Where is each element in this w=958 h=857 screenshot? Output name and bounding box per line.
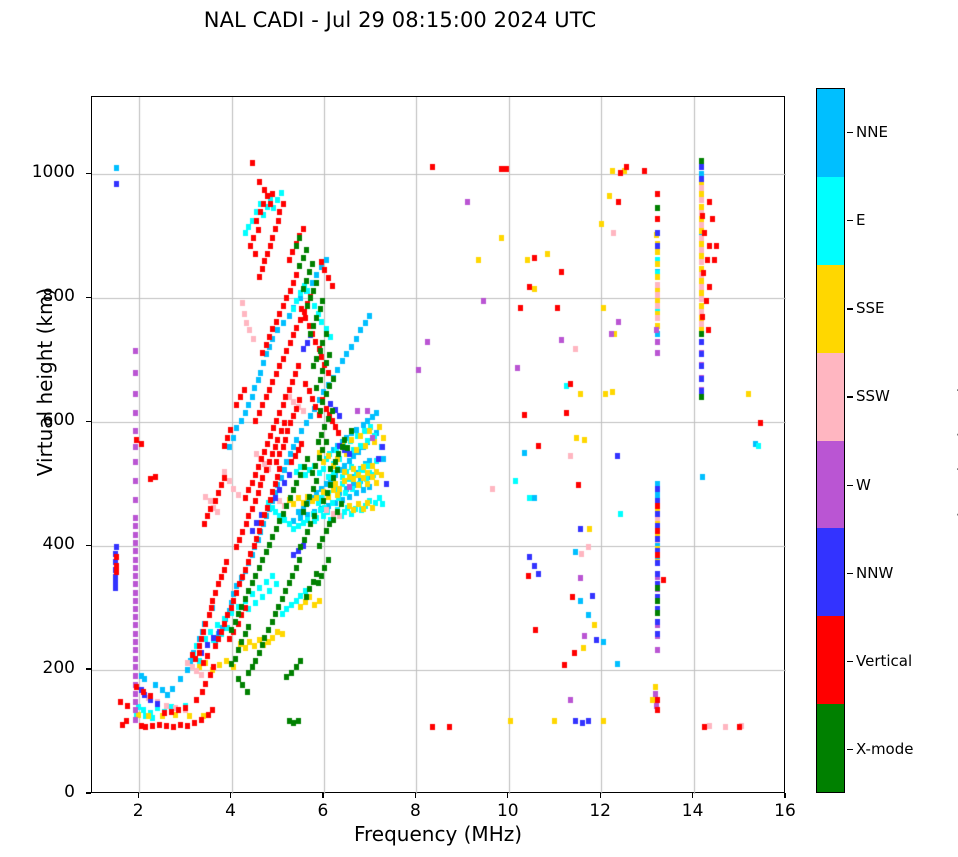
y-tick-label-1000: 1000 <box>15 162 75 182</box>
x-tick-mark-4 <box>230 793 231 798</box>
scatter-data-canvas <box>92 97 786 794</box>
plot-area[interactable] <box>91 96 785 793</box>
colorbar-segment-x-mode[interactable] <box>817 704 844 792</box>
colorbar-tick-nnw <box>847 573 853 574</box>
x-axis-label: Frequency (MHz) <box>91 822 785 846</box>
colorbar-segment-ssw[interactable] <box>817 353 844 441</box>
x-tick-mark-12 <box>600 793 601 798</box>
y-tick-mark-400 <box>86 545 91 546</box>
x-tick-label-10: 10 <box>478 801 538 821</box>
colorbar-label-x-mode: X-mode <box>856 740 913 758</box>
x-tick-mark-16 <box>784 793 785 798</box>
x-tick-mark-14 <box>692 793 693 798</box>
colorbar[interactable] <box>816 88 845 793</box>
colorbar-segment-e[interactable] <box>817 177 844 265</box>
colorbar-label-w: W <box>856 476 871 494</box>
colorbar-segment-sse[interactable] <box>817 265 844 353</box>
x-tick-mark-10 <box>507 793 508 798</box>
colorbar-segment-nne[interactable] <box>817 89 844 177</box>
colorbar-tick-ssw <box>847 396 853 397</box>
colorbar-label-sse: SSE <box>856 299 885 317</box>
x-tick-label-2: 2 <box>108 801 168 821</box>
y-tick-label-400: 400 <box>15 534 75 554</box>
colorbar-label-ssw: SSW <box>856 387 890 405</box>
colorbar-tick-vertical <box>847 661 853 662</box>
ionogram-figure: NAL CADI - Jul 29 08:15:00 2024 UTC 2468… <box>0 0 958 857</box>
y-tick-mark-0 <box>86 792 91 793</box>
colorbar-tick-nne <box>847 132 853 133</box>
x-tick-label-6: 6 <box>293 801 353 821</box>
x-tick-label-8: 8 <box>385 801 445 821</box>
y-tick-mark-800 <box>86 297 91 298</box>
y-tick-mark-1000 <box>86 173 91 174</box>
y-axis-label: Virtual height (km) <box>33 232 57 532</box>
x-tick-label-16: 16 <box>755 801 815 821</box>
colorbar-tick-e <box>847 220 853 221</box>
y-tick-label-0: 0 <box>15 782 75 802</box>
colorbar-segment-nnw[interactable] <box>817 528 844 616</box>
x-tick-mark-2 <box>138 793 139 798</box>
y-tick-label-200: 200 <box>15 658 75 678</box>
x-tick-label-14: 14 <box>663 801 723 821</box>
colorbar-segment-vertical[interactable] <box>817 616 844 704</box>
x-tick-label-4: 4 <box>201 801 261 821</box>
x-tick-label-12: 12 <box>570 801 630 821</box>
x-tick-mark-8 <box>415 793 416 798</box>
colorbar-label-e: E <box>856 211 865 229</box>
colorbar-label-vertical: Vertical <box>856 652 912 670</box>
colorbar-tick-x-mode <box>847 749 853 750</box>
page-title: NAL CADI - Jul 29 08:15:00 2024 UTC <box>0 8 800 32</box>
colorbar-label-nnw: NNW <box>856 564 893 582</box>
y-tick-mark-200 <box>86 668 91 669</box>
colorbar-tick-w <box>847 485 853 486</box>
colorbar-segment-w[interactable] <box>817 441 844 529</box>
colorbar-label-nne: NNE <box>856 123 888 141</box>
colorbar-label: Azimuth Direction <box>954 292 958 612</box>
colorbar-tick-sse <box>847 308 853 309</box>
y-tick-mark-600 <box>86 421 91 422</box>
x-tick-mark-6 <box>322 793 323 798</box>
